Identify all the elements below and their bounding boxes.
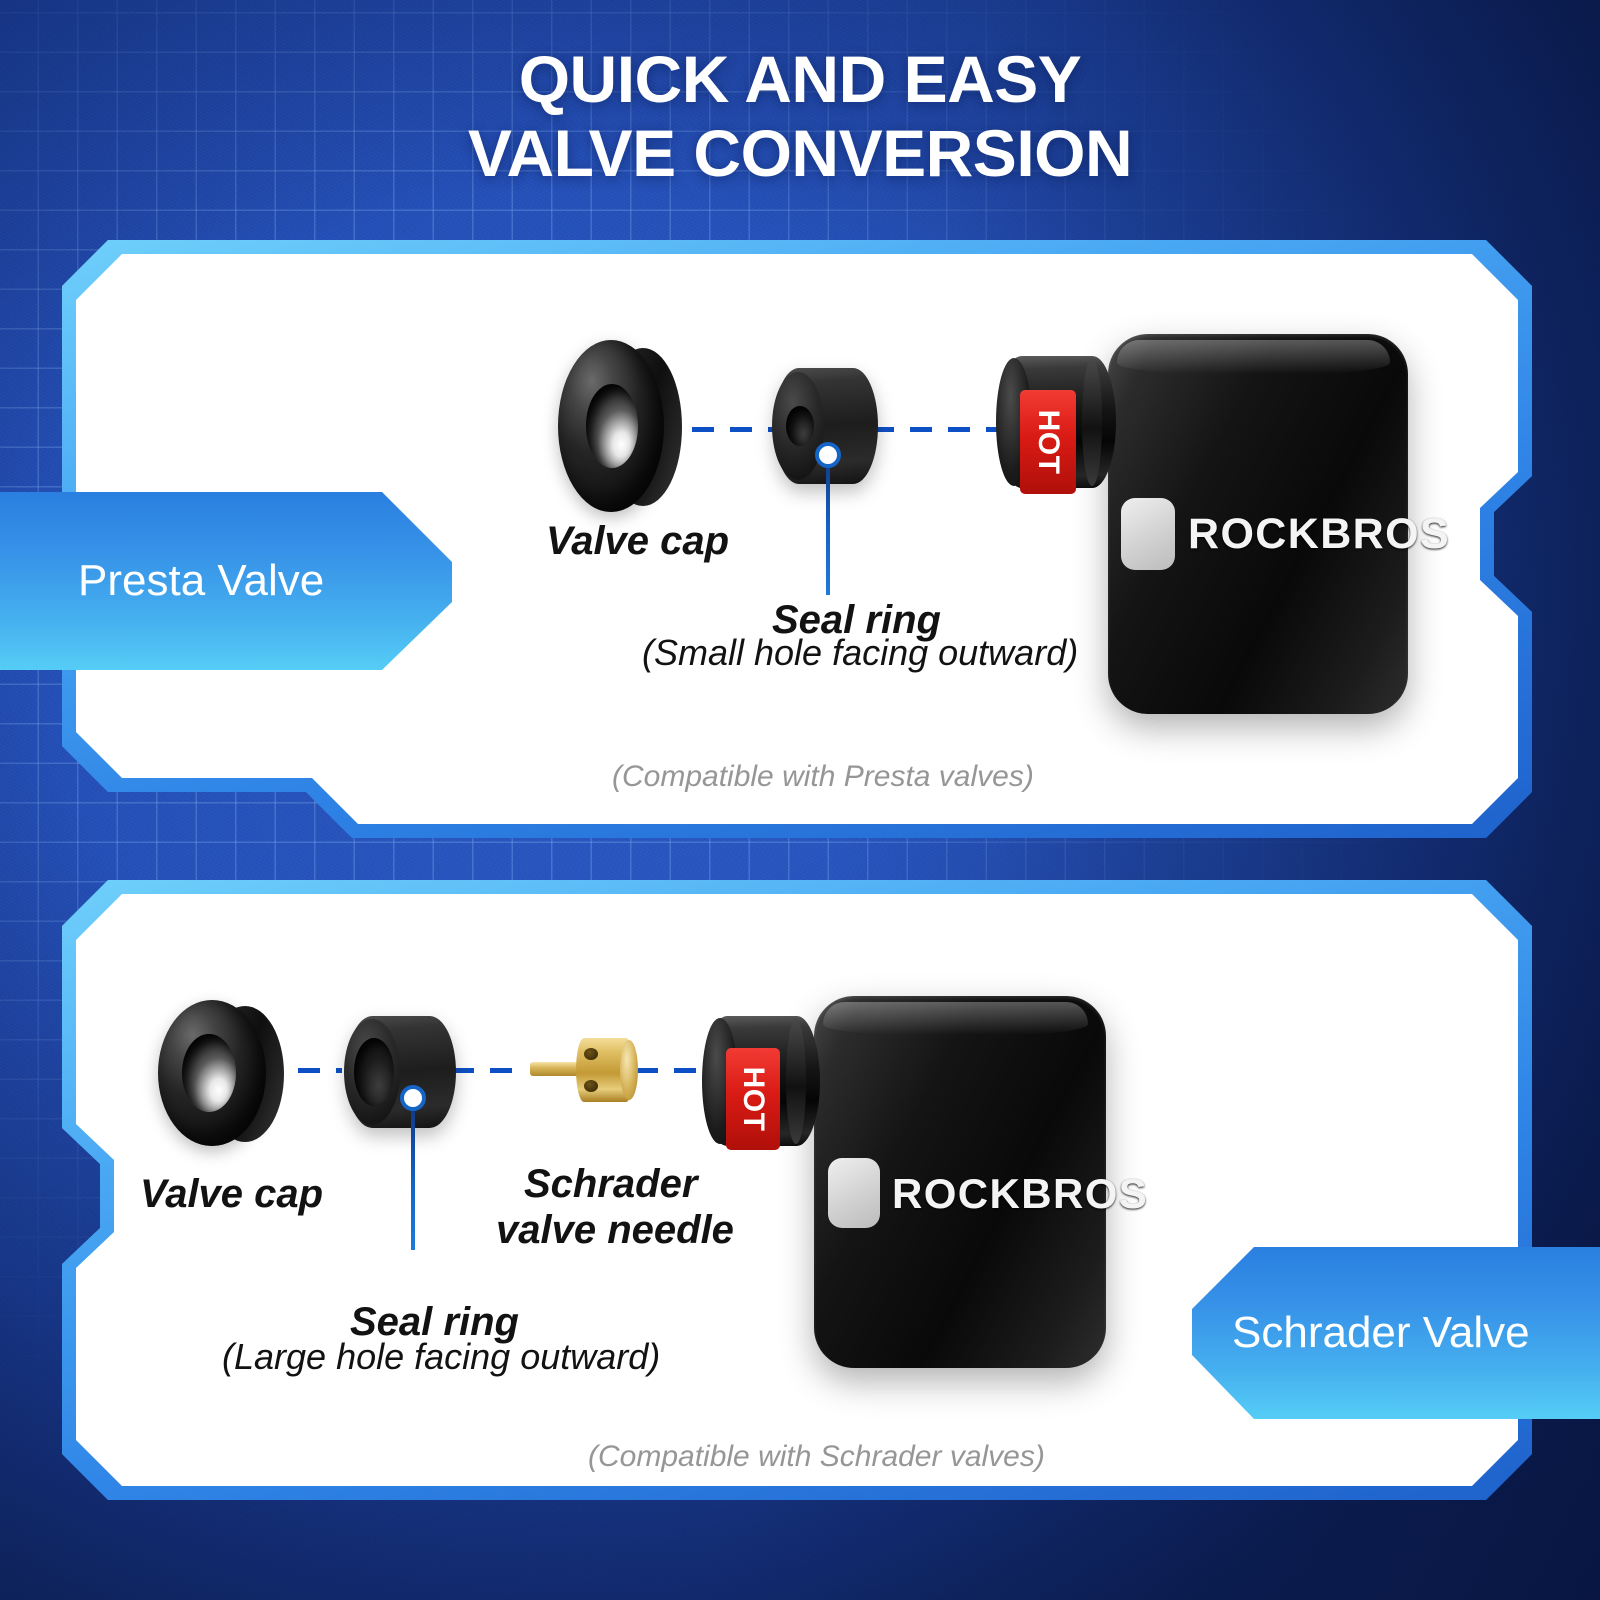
assembly-axis-schrader-2 [452,1068,528,1073]
footer-note-presta: (Compatible with Presta valves) [612,760,1034,794]
hot-warning-text: HOT [1031,410,1065,475]
leader-line-seal-ring-schrader [411,1108,415,1250]
nozzle-hot-warning-band: HOT [1020,390,1076,494]
valve-cap-hole [182,1034,236,1112]
leader-dot-seal-ring-schrader [400,1085,426,1111]
needle-notch-top [584,1048,598,1060]
pump-nozzle-schrader: HOT [704,1016,820,1146]
page-title: QUICK AND EASY VALVE CONVERSION [0,46,1600,186]
part-schrader-valve-needle [530,1036,638,1104]
pump-top-highlight [823,1002,1089,1035]
needle-barrel-face [620,1040,638,1100]
badge-presta-valve: Presta Valve [0,492,452,670]
label-schrader-needle-line-2: valve needle [496,1208,734,1253]
nozzle-groove [1082,358,1102,486]
sublabel-seal-ring-schrader: (Large hole facing outward) [222,1336,660,1378]
pump-top-highlight [1117,340,1390,374]
pump-indicator-chip [1121,498,1175,570]
badge-schrader-valve: Schrader Valve [1192,1247,1600,1419]
title-line-2: VALVE CONVERSION [0,120,1600,186]
hot-warning-text: HOT [736,1067,770,1132]
product-pump-presta: ROCKBROS [1108,334,1408,714]
leader-dot-seal-ring-presta [815,442,841,468]
nozzle-groove [786,1018,806,1144]
pump-nozzle-presta: HOT [998,356,1116,488]
label-valve-cap-schrader: Valve cap [140,1172,323,1217]
footer-note-schrader: (Compatible with Schrader valves) [588,1440,1045,1474]
sublabel-seal-ring-presta: (Small hole facing outward) [642,632,1078,674]
needle-notch-bottom [584,1080,598,1092]
part-valve-cap-schrader [158,1000,290,1146]
part-seal-ring-schrader [346,1016,456,1128]
badge-schrader-label: Schrader Valve [1232,1308,1530,1358]
product-pump-schrader: ROCKBROS [814,996,1106,1368]
part-valve-cap-presta [558,340,688,512]
seal-ring-bore [354,1038,394,1106]
nozzle-hot-warning-band: HOT [726,1048,780,1150]
leader-line-seal-ring-presta [826,455,830,595]
seal-ring-bore [786,406,814,446]
label-schrader-needle-line-1: Schrader [524,1162,697,1207]
valve-cap-hole [586,384,638,468]
pump-indicator-chip [828,1158,880,1228]
badge-presta-label: Presta Valve [78,556,324,606]
pump-brand-logo: ROCKBROS [1188,510,1450,559]
needle-pin [530,1062,582,1076]
label-valve-cap-presta: Valve cap [546,519,729,564]
title-line-1: QUICK AND EASY [519,42,1082,116]
pump-brand-logo: ROCKBROS [892,1170,1148,1218]
